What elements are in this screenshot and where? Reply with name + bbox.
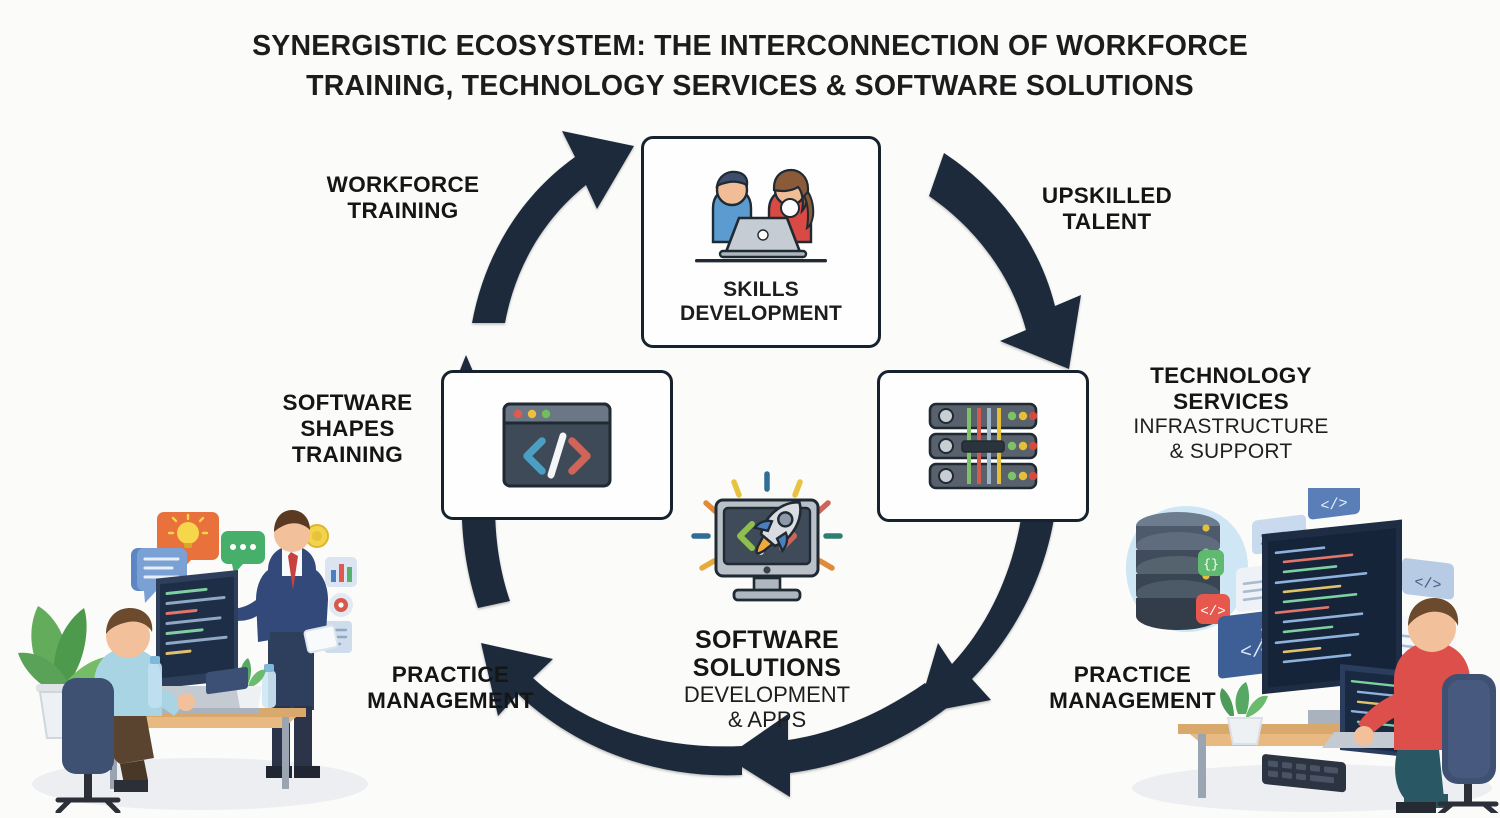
center-sub-line-1: DEVELOPMENT bbox=[684, 682, 850, 707]
skills-label-line-1: SKILLS bbox=[723, 278, 799, 301]
tech-line-2: SERVICES bbox=[1173, 389, 1289, 414]
speech-bubble-chat bbox=[221, 531, 265, 574]
tech-line-1: TECHNOLOGY bbox=[1150, 363, 1312, 388]
svg-text:</>: </> bbox=[1321, 494, 1348, 515]
svg-text:{}: {} bbox=[1203, 557, 1219, 572]
server-rack-icon bbox=[924, 398, 1042, 494]
code-window-icon bbox=[501, 401, 613, 489]
left-scene bbox=[10, 488, 370, 813]
label-technology-services: TECHNOLOGY SERVICES INFRASTRUCTURE & SUP… bbox=[1096, 363, 1366, 465]
tech-sub-line-1: INFRASTRUCTURE bbox=[1133, 415, 1328, 438]
target-icon bbox=[329, 593, 353, 617]
center-sub-line-2: & APPS bbox=[728, 707, 806, 732]
svg-text:</>: </> bbox=[1415, 573, 1442, 594]
upskilled-line-1: UPSKILLED bbox=[1042, 183, 1172, 208]
practice-left-line-2: MANAGEMENT bbox=[367, 688, 534, 713]
label-upskilled-talent: UPSKILLED TALENT bbox=[982, 183, 1232, 235]
node-card-skills-development[interactable]: SKILLS DEVELOPMENT bbox=[641, 136, 881, 348]
shapes-line-3: TRAINING bbox=[292, 442, 403, 467]
database-stack-icon: {} </> bbox=[1126, 506, 1248, 632]
arrow-workforce-training bbox=[472, 131, 634, 323]
monitor-rocket-code-icon bbox=[672, 470, 862, 618]
label-workforce-training: WORKFORCE TRAINING bbox=[268, 172, 538, 224]
shapes-line-2: SHAPES bbox=[300, 416, 394, 441]
upskilled-line-2: TALENT bbox=[1063, 209, 1152, 234]
label-software-shapes-training: SOFTWARE SHAPES TRAINING bbox=[240, 390, 455, 468]
node-card-technology[interactable] bbox=[877, 370, 1089, 522]
developer-workstation-illustration: {} </> </> </> </> bbox=[1112, 488, 1500, 813]
training-session-illustration bbox=[10, 488, 370, 813]
card-label-skills-development: SKILLS DEVELOPMENT bbox=[680, 278, 842, 325]
center-title-line-2: SOLUTIONS bbox=[693, 654, 842, 682]
skills-label-line-2: DEVELOPMENT bbox=[680, 302, 842, 325]
tech-sub-line-2: & SUPPORT bbox=[1170, 440, 1293, 463]
chart-icon bbox=[325, 557, 357, 587]
practice-left-line-1: PRACTICE bbox=[392, 662, 509, 687]
center-software-solutions: SOFTWARE SOLUTIONS DEVELOPMENT & APPS bbox=[632, 470, 902, 732]
workforce-line-1: WORKFORCE bbox=[327, 172, 480, 197]
shapes-line-1: SOFTWARE bbox=[283, 390, 413, 415]
workforce-line-2: TRAINING bbox=[347, 198, 458, 223]
center-caption: SOFTWARE SOLUTIONS DEVELOPMENT & APPS bbox=[632, 627, 902, 732]
center-title-line-1: SOFTWARE bbox=[695, 626, 839, 654]
two-people-laptop-icon bbox=[677, 164, 845, 274]
right-scene: {} </> </> </> </> bbox=[1112, 488, 1500, 813]
infographic-canvas: Synergistic Ecosystem: The Interconnecti… bbox=[0, 0, 1500, 817]
